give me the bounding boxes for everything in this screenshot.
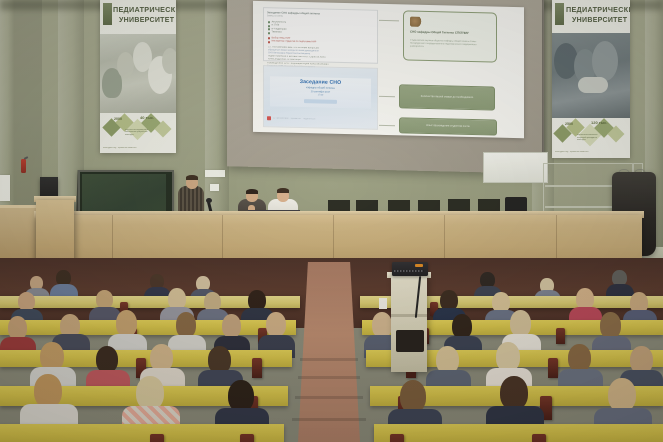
center-aisle — [298, 262, 360, 442]
poster-footer: www.gpmu.org · приемная комиссия — [555, 151, 588, 153]
slide-image-button — [304, 99, 337, 104]
poster-figure — [578, 77, 608, 93]
slide-card-title: СНО кафедры Общей Гигиены СПбГПМУ — [410, 31, 490, 36]
bench-side-panel — [532, 434, 546, 442]
poster-crest-icon — [555, 3, 564, 25]
audience-head — [222, 314, 241, 338]
screen-edge — [542, 0, 549, 174]
audience-head — [600, 312, 621, 339]
poster-infographic: 2000 40 тыс. научных исследований и клин… — [100, 113, 176, 153]
poster-title-line2: УНИВЕРСИТЕТ — [572, 17, 627, 24]
bench-side-panel — [548, 358, 558, 378]
aisle-step — [295, 396, 363, 399]
aisle-step — [292, 418, 366, 421]
bench-side-panel — [240, 434, 254, 442]
poster-diamond-text: научных исследований и клинических разра… — [125, 129, 153, 137]
poster-footer: www.gpmu.org · приемная комиссия — [103, 147, 136, 149]
audience-head — [116, 310, 137, 337]
slide-org-card: СНО кафедры Общей Гигиены СПбГПМУ Студен… — [403, 10, 497, 62]
slide-social-post: Заседание СНО кафедры общей гигиены Запи… — [263, 7, 378, 64]
audience-head — [608, 378, 636, 412]
poster-stat-2: 120 тыс. — [591, 120, 608, 125]
poster-infographic: 2500 120 тыс. высокотехнологичных операц… — [552, 118, 630, 158]
poster-stat-1: 2000 — [114, 117, 122, 121]
presentation-slide: Заседание СНО кафедры общей гигиены Запи… — [253, 1, 524, 138]
whiteboard — [483, 152, 548, 183]
slide-connector — [379, 20, 399, 22]
audience-head — [96, 346, 118, 373]
speaker-hair — [186, 175, 198, 180]
lecture-hall-photo: ПЕДИАТРИЧЕСКИЙ УНИВЕРСИТЕТ 2000 40 тыс. … — [0, 0, 663, 442]
bench-desk — [374, 424, 663, 442]
poster-left: ПЕДИАТРИЧЕСКИЙ УНИВЕРСИТЕТ 2000 40 тыс. … — [100, 0, 176, 153]
slide-card-description: Студенческое научное общество кафедры об… — [410, 40, 490, 51]
bench-side-panel — [252, 358, 262, 378]
poster-photo — [100, 34, 176, 115]
poster-crest-icon — [103, 3, 112, 25]
cart-stored-equipment — [396, 330, 424, 352]
fire-extinguisher-icon — [21, 159, 26, 173]
bench-side-panel — [390, 434, 404, 442]
poster-title-line1: ПЕДИАТРИЧЕСКИЙ — [566, 5, 630, 14]
poster-figure — [162, 48, 176, 74]
control-buttons[interactable] — [394, 270, 424, 272]
audience-head — [568, 344, 591, 372]
projection-screen: Заседание СНО кафедры общей гигиены Запи… — [227, 0, 544, 174]
cart-label — [379, 298, 387, 309]
audience-head — [136, 376, 164, 410]
status-led-icon — [415, 264, 423, 267]
poster-title-line1: ПЕДИАТРИЧЕСКИЙ — [113, 5, 176, 14]
poster-stat-2: 40 тыс. — [140, 115, 154, 120]
aisle-step — [298, 376, 360, 379]
bench-side-panel — [556, 328, 565, 344]
panelist-left-hair — [246, 189, 258, 194]
slide-like-icon — [267, 116, 271, 120]
slide-green-box: Количество вашей скидки до необходимого — [399, 84, 495, 110]
poster-figure — [117, 52, 134, 78]
wall-notice — [0, 175, 10, 201]
slide-connector — [379, 125, 395, 127]
audience-head — [500, 376, 528, 410]
slide-green-box: Опыт прохождения студентов после — [399, 117, 497, 135]
wall-notice — [210, 184, 219, 191]
slide-connector — [379, 96, 395, 98]
audience-seating — [0, 262, 663, 442]
microphone-head-icon — [206, 198, 212, 203]
audience-head — [266, 312, 286, 337]
poster-figure — [592, 41, 618, 81]
audience-head — [34, 374, 62, 408]
poster-right: ПЕДИАТРИЧЕСКИЙ УНИВЕРСИТЕТ 2500 120 тыс.… — [552, 0, 630, 158]
slide-card-logo-icon — [410, 17, 422, 27]
panelist-right-hair — [277, 188, 289, 193]
bench-desk — [0, 320, 296, 335]
bench-side-panel — [150, 434, 164, 442]
aisle-step — [300, 358, 358, 361]
poster-stat-1: 2500 — [565, 122, 573, 126]
slide-embedded-image: Заседание СНО кафедры общей гигиены 20 с… — [263, 65, 378, 130]
poster-diamond-text: высокотехнологичных операций проводится … — [577, 134, 606, 142]
wall-notice — [205, 170, 225, 177]
slide-image-footer: 12 просмотров · Нравится · Поделиться — [273, 117, 373, 122]
poster-photo — [552, 33, 630, 119]
side-desk — [0, 208, 38, 258]
audience-head — [510, 310, 531, 337]
poster-title-line2: УНИВЕРСИТЕТ — [119, 17, 174, 24]
equipment-cart — [391, 276, 427, 372]
cart-shelf — [391, 314, 427, 317]
